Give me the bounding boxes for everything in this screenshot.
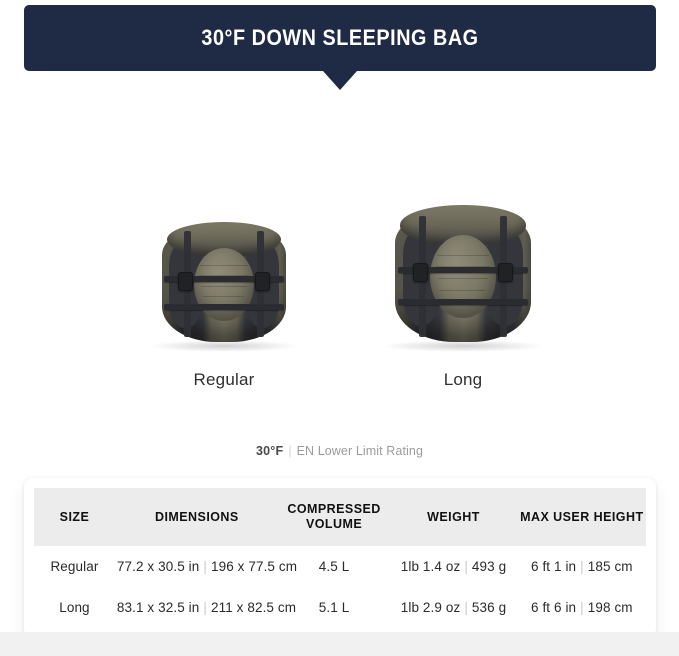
cell-size: Long xyxy=(34,587,115,628)
unit-separator: | xyxy=(460,559,472,574)
figure-long: Long xyxy=(348,150,578,405)
unit-separator: | xyxy=(460,600,472,615)
unit-separator: | xyxy=(199,559,211,574)
dimensions-imperial: 77.2 x 30.5 in xyxy=(117,559,199,574)
cell-weight: 1lb 2.9 oz|536 g xyxy=(389,587,517,628)
product-image-long xyxy=(348,150,578,360)
cell-weight: 1lb 1.4 oz|493 g xyxy=(389,546,517,587)
figure-regular: Regular xyxy=(109,150,339,405)
dimensions-metric: 196 x 77.5 cm xyxy=(211,559,297,574)
weight-imperial: 1lb 2.9 oz xyxy=(401,600,461,615)
column-header-max-user-height: MAX USER HEIGHT xyxy=(518,488,646,546)
height-imperial: 6 ft 6 in xyxy=(531,600,576,615)
page-title: 30°F DOWN SLEEPING BAG xyxy=(201,25,478,51)
unit-separator: | xyxy=(199,600,211,615)
rating-temperature: 30°F xyxy=(256,444,283,458)
compression-stuff-sack-icon xyxy=(162,224,286,342)
column-header-weight: WEIGHT xyxy=(389,488,517,546)
dimensions-metric: 211 x 82.5 cm xyxy=(211,600,296,615)
cell-dimensions: 83.1 x 32.5 in|211 x 82.5 cm xyxy=(115,587,279,628)
rating-separator: | xyxy=(283,444,296,458)
height-metric: 198 cm xyxy=(588,600,633,615)
cell-max-user-height: 6 ft 6 in|198 cm xyxy=(518,587,646,628)
figure-caption-regular: Regular xyxy=(109,370,339,390)
dimensions-imperial: 83.1 x 32.5 in xyxy=(117,600,199,615)
en-rating-line: 30°F|EN Lower Limit Rating xyxy=(0,444,679,458)
page-bottom-band xyxy=(0,632,679,656)
height-metric: 185 cm xyxy=(588,559,633,574)
banner-pointer-triangle xyxy=(323,71,357,90)
product-figures: Regular xyxy=(0,150,679,405)
cell-size: Regular xyxy=(34,546,115,587)
sack-buckle-right xyxy=(498,263,513,282)
sack-compression-strap-lower xyxy=(164,304,283,310)
column-header-compressed-volume: COMPRESSED VOLUME xyxy=(279,488,390,546)
table-header-row: SIZE DIMENSIONS COMPRESSED VOLUME WEIGHT… xyxy=(34,488,646,546)
cell-max-user-height: 6 ft 1 in|185 cm xyxy=(518,546,646,587)
rating-label: EN Lower Limit Rating xyxy=(297,444,423,458)
unit-separator: | xyxy=(576,600,588,615)
compression-stuff-sack-icon xyxy=(395,208,531,342)
height-imperial: 6 ft 1 in xyxy=(531,559,576,574)
banner-body: 30°F DOWN SLEEPING BAG xyxy=(24,5,656,71)
figure-caption-long: Long xyxy=(348,370,578,390)
weight-metric: 493 g xyxy=(472,559,506,574)
spec-table-body: Regular 77.2 x 30.5 in|196 x 77.5 cm 4.5… xyxy=(34,546,646,628)
spec-table: SIZE DIMENSIONS COMPRESSED VOLUME WEIGHT… xyxy=(34,488,646,628)
product-spec-page: 30°F DOWN SLEEPING BAG xyxy=(0,0,679,656)
table-row: Long 83.1 x 32.5 in|211 x 82.5 cm 5.1 L … xyxy=(34,587,646,628)
cell-dimensions: 77.2 x 30.5 in|196 x 77.5 cm xyxy=(115,546,279,587)
sack-buckle-left xyxy=(413,263,428,282)
unit-separator: | xyxy=(576,559,588,574)
product-title-banner: 30°F DOWN SLEEPING BAG xyxy=(24,5,656,71)
sack-compression-strap-lower xyxy=(398,299,529,305)
sack-buckle-right xyxy=(255,272,270,291)
sack-buckle-left xyxy=(178,272,193,291)
product-image-regular xyxy=(109,150,339,360)
spec-table-card: SIZE DIMENSIONS COMPRESSED VOLUME WEIGHT… xyxy=(24,478,656,638)
sack-center-panel xyxy=(430,235,495,318)
table-row: Regular 77.2 x 30.5 in|196 x 77.5 cm 4.5… xyxy=(34,546,646,587)
column-header-size: SIZE xyxy=(34,488,115,546)
spec-table-head: SIZE DIMENSIONS COMPRESSED VOLUME WEIGHT… xyxy=(34,488,646,546)
weight-metric: 536 g xyxy=(472,600,506,615)
column-header-dimensions: DIMENSIONS xyxy=(115,488,279,546)
weight-imperial: 1lb 1.4 oz xyxy=(401,559,461,574)
